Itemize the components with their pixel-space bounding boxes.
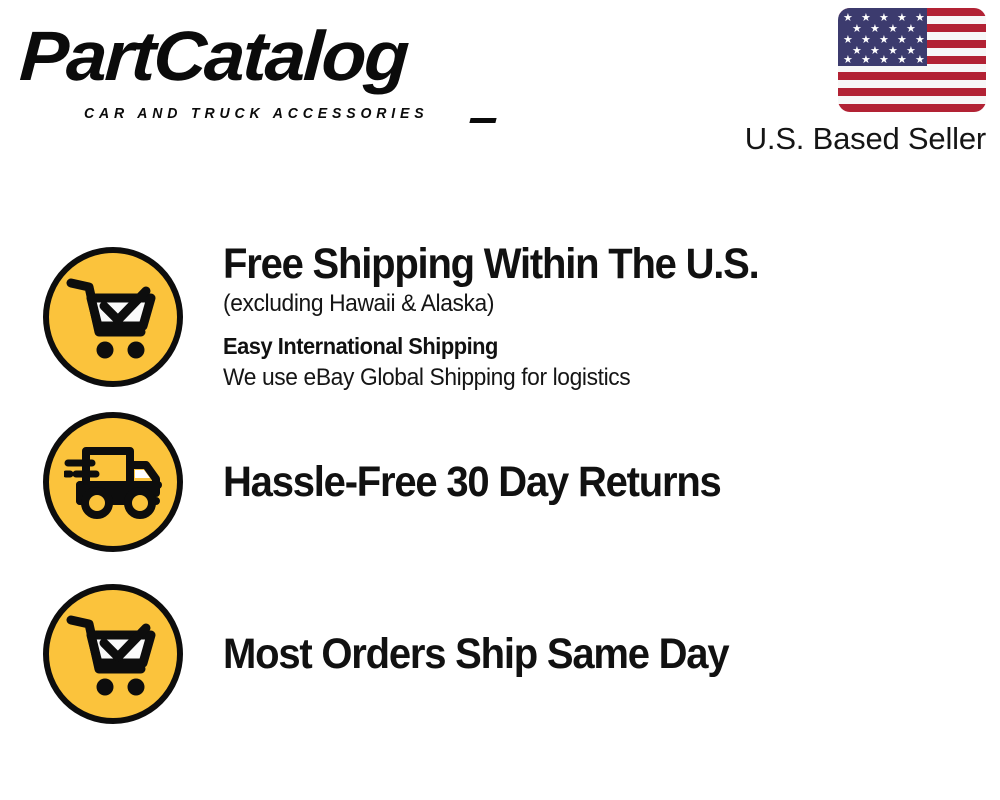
delivery-truck-icon (43, 412, 183, 552)
feature-row: Free Shipping Within The U.S. (excluding… (0, 240, 1000, 394)
feature-title: Free Shipping Within The U.S. (223, 240, 927, 288)
feature-text: Free Shipping Within The U.S. (excluding… (223, 240, 1000, 394)
brand-wordmark: PartCatalog (18, 18, 409, 94)
us-based-seller-label: U.S. Based Seller (726, 121, 986, 157)
feature-subtitle: (excluding Hawaii & Alaska) (223, 288, 942, 320)
feature-text: Hassle-Free 30 Day Returns (223, 458, 1000, 506)
us-based-seller-block: ★ ★ ★ ★ ★ ★ ★ ★ ★ ★ ★ ★ ★ ★ ★ ★ ★ (726, 8, 986, 157)
cart-check-icon (43, 247, 183, 387)
cart-check-icon (43, 584, 183, 724)
us-flag-icon: ★ ★ ★ ★ ★ ★ ★ ★ ★ ★ ★ ★ ★ ★ ★ ★ ★ (838, 8, 986, 112)
flag-canton: ★ ★ ★ ★ ★ ★ ★ ★ ★ ★ ★ ★ ★ ★ ★ ★ ★ (838, 8, 927, 66)
feature-text: Most Orders Ship Same Day (223, 630, 1000, 678)
feature-row: Hassle-Free 30 Day Returns (0, 412, 1000, 552)
brand-tagline: CAR AND TRUCK ACCESSORIES (84, 106, 428, 122)
feature-subtitle-secondary: We use eBay Global Shipping for logistic… (223, 362, 942, 394)
brand-logo: PartCatalog CAR AND TRUCK ACCESSORIES (22, 18, 492, 118)
feature-row: Most Orders Ship Same Day (0, 584, 1000, 724)
promo-banner: PartCatalog CAR AND TRUCK ACCESSORIES (0, 0, 1000, 800)
feature-title: Most Orders Ship Same Day (223, 630, 927, 678)
flag-stars: ★ ★ ★ ★ ★ ★ ★ ★ ★ ★ ★ ★ ★ ★ ★ ★ ★ (838, 8, 927, 66)
brand-underline-dash (469, 118, 496, 123)
feature-subtitle-strong: Easy International Shipping (223, 330, 942, 362)
feature-title: Hassle-Free 30 Day Returns (223, 458, 927, 506)
